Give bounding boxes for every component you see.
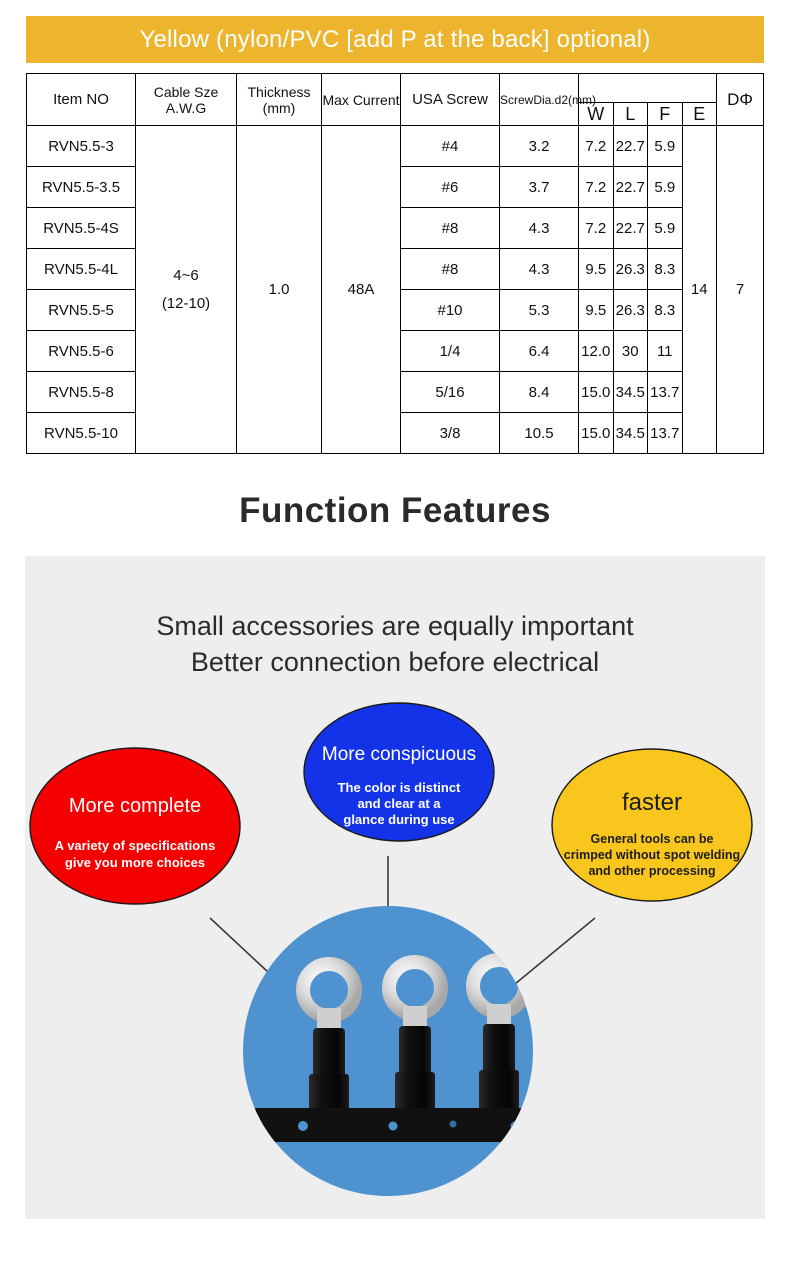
- cable-size-line-2: (12-10): [136, 290, 236, 318]
- cell-usa-screw: 1/4: [401, 331, 500, 372]
- cell-screw-dia: 6.4: [500, 331, 579, 372]
- cell-w: 12.0: [579, 331, 614, 372]
- header-thickness: Thickness (mm): [237, 74, 322, 126]
- cell-w: 7.2: [579, 208, 614, 249]
- cell-usa-screw: #8: [401, 249, 500, 290]
- cell-screw-dia: 4.3: [500, 208, 579, 249]
- cell-w: 15.0: [579, 413, 614, 454]
- cell-screw-dia: 3.2: [500, 126, 579, 167]
- bubble-title: More complete: [69, 795, 201, 817]
- cell-usa-screw: #4: [401, 126, 500, 167]
- cell-item-no: RVN5.5-5: [27, 290, 136, 331]
- cell-e-merged: 14: [682, 126, 717, 454]
- header-l: L: [613, 103, 648, 126]
- connector-line-gold: [515, 918, 595, 984]
- cell-f: 5.9: [648, 126, 683, 167]
- bubble-body-line-3: and other processing: [588, 864, 715, 878]
- cell-item-no: RVN5.5-4S: [27, 208, 136, 249]
- specification-table: Item NO Cable Sze A.W.G Thickness (mm) M…: [26, 73, 764, 454]
- cell-f: 8.3: [648, 249, 683, 290]
- cell-usa-screw: #8: [401, 208, 500, 249]
- bubble-body-line-3: glance during use: [343, 812, 454, 827]
- bubble-body-line-2: and clear at a: [357, 796, 441, 811]
- cell-item-no: RVN5.5-10: [27, 413, 136, 454]
- bubble-faster: faster General tools can be crimped with…: [552, 749, 752, 901]
- cell-cable-size-merged: 4~6 (12-10): [136, 126, 237, 454]
- cell-l: 22.7: [613, 208, 648, 249]
- header-e: E: [682, 103, 717, 126]
- cell-l: 26.3: [613, 290, 648, 331]
- cell-f: 5.9: [648, 208, 683, 249]
- table-header-row-top: Item NO Cable Sze A.W.G Thickness (mm) M…: [27, 74, 764, 103]
- cell-usa-screw: 3/8: [401, 413, 500, 454]
- cell-w: 9.5: [579, 290, 614, 331]
- bubble-more-conspicuous: More conspicuous The color is distinct a…: [304, 703, 494, 841]
- cell-usa-screw: 5/16: [401, 372, 500, 413]
- cell-usa-screw: #10: [401, 290, 500, 331]
- cell-item-no: RVN5.5-6: [27, 331, 136, 372]
- cell-w: 9.5: [579, 249, 614, 290]
- cell-item-no: RVN5.5-3.5: [27, 167, 136, 208]
- bubble-title: More conspicuous: [322, 744, 476, 765]
- bubble-body-line-1: A variety of specifications: [55, 838, 216, 853]
- header-usa-screw: USA Screw: [401, 74, 500, 126]
- header-d-phi: DΦ: [717, 74, 764, 126]
- cell-screw-dia: 4.3: [500, 249, 579, 290]
- bubble-body-line-1: General tools can be: [591, 832, 714, 846]
- cell-l: 34.5: [613, 372, 648, 413]
- bubble-title: faster: [622, 789, 682, 816]
- function-features-panel: Small accessories are equally important …: [25, 556, 765, 1219]
- cell-screw-dia: 5.3: [500, 290, 579, 331]
- features-diagram: More complete A variety of specification…: [25, 556, 765, 1219]
- bubble-more-complete: More complete A variety of specification…: [30, 748, 240, 904]
- header-f: F: [648, 103, 683, 126]
- carrier-strip: [235, 1108, 565, 1142]
- cell-l: 22.7: [613, 167, 648, 208]
- cell-f: 11: [648, 331, 683, 372]
- cell-item-no: RVN5.5-3: [27, 126, 136, 167]
- specification-table-container: Item NO Cable Sze A.W.G Thickness (mm) M…: [26, 73, 764, 454]
- header-cable-size: Cable Sze A.W.G: [136, 74, 237, 126]
- cell-f: 8.3: [648, 290, 683, 331]
- cell-thickness-merged: 1.0: [237, 126, 322, 454]
- cell-screw-dia: 8.4: [500, 372, 579, 413]
- bubble-body-line-2: give you more choices: [65, 855, 205, 870]
- header-screw-dia: ScrewDia.d2(mm): [500, 74, 579, 126]
- cell-item-no: RVN5.5-8: [27, 372, 136, 413]
- product-photo-circle: [235, 906, 565, 1196]
- cell-item-no: RVN5.5-4L: [27, 249, 136, 290]
- cell-usa-screw: #6: [401, 167, 500, 208]
- header-item-no: Item NO: [27, 74, 136, 126]
- cable-size-line-1: 4~6: [136, 262, 236, 290]
- cell-l: 26.3: [613, 249, 648, 290]
- cell-l: 22.7: [613, 126, 648, 167]
- product-color-banner: Yellow (nylon/PVC [add P at the back] op…: [26, 16, 764, 63]
- cell-d-phi-merged: 7: [717, 126, 764, 454]
- bubble-body-line-2: crimped without spot welding: [564, 848, 740, 862]
- cell-screw-dia: 10.5: [500, 413, 579, 454]
- cell-w: 7.2: [579, 126, 614, 167]
- cell-w: 7.2: [579, 167, 614, 208]
- banner-title: Yellow (nylon/PVC [add P at the back] op…: [139, 26, 650, 54]
- cell-f: 13.7: [648, 372, 683, 413]
- function-features-title: Function Features: [0, 491, 790, 531]
- bubble-body-line-1: The color is distinct: [338, 780, 461, 795]
- cell-f: 13.7: [648, 413, 683, 454]
- cell-l: 34.5: [613, 413, 648, 454]
- cell-w: 15.0: [579, 372, 614, 413]
- cell-max-current-merged: 48A: [322, 126, 401, 454]
- header-max-current: Max Current: [322, 74, 401, 126]
- cell-f: 5.9: [648, 167, 683, 208]
- cell-screw-dia: 3.7: [500, 167, 579, 208]
- header-dimension-group: [579, 74, 717, 103]
- cell-l: 30: [613, 331, 648, 372]
- table-row: RVN5.5-3 4~6 (12-10) 1.0 48A #4 3.2 7.2 …: [27, 126, 764, 167]
